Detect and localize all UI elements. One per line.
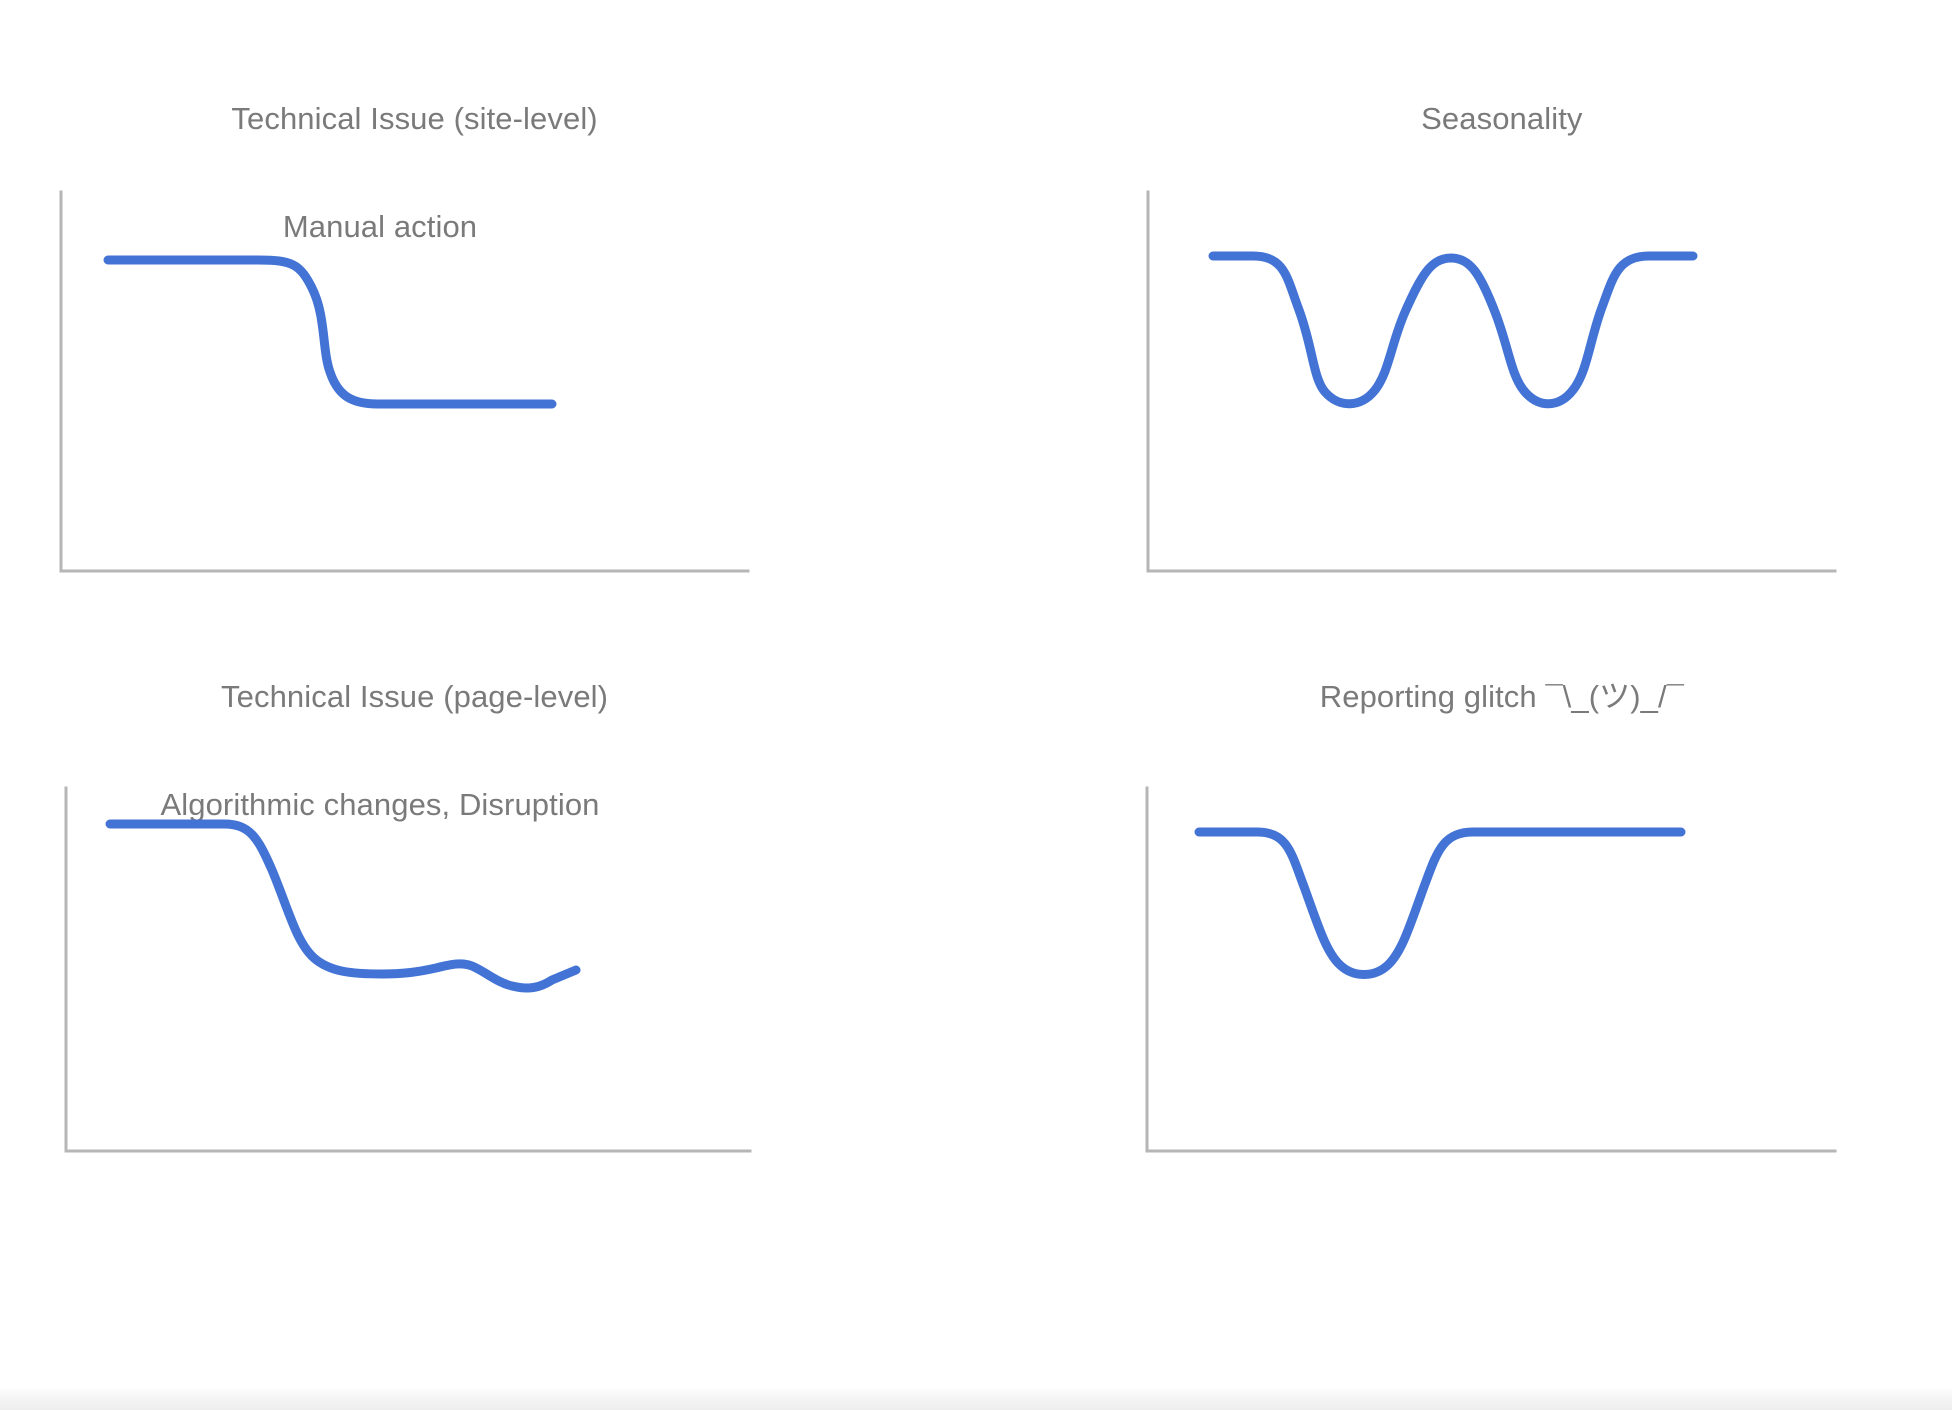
bottom-edge-band xyxy=(0,1388,1952,1410)
panel-title-line1: Seasonality xyxy=(1421,101,1582,136)
chart-seasonality xyxy=(1087,168,1857,598)
chart-axes-reporting-glitch xyxy=(1147,788,1835,1151)
chart-axes-site-level xyxy=(61,192,748,571)
chart-reporting-glitch xyxy=(1087,766,1857,1186)
panel-technical-issue-site-level: Technical Issue (site-level) Manual acti… xyxy=(0,38,760,362)
chart-series-site-level xyxy=(108,260,552,404)
panel-title-line1: Technical Issue (site-level) xyxy=(231,101,597,136)
chart-series-page-level xyxy=(110,824,576,988)
slide-canvas: Technical Issue (site-level) Manual acti… xyxy=(0,0,1952,1410)
chart-technical-issue-site-level xyxy=(0,168,770,598)
chart-svg-seasonality xyxy=(1087,168,1857,598)
chart-svg-page-level xyxy=(0,766,770,1186)
chart-grid: Technical Issue (site-level) Manual acti… xyxy=(0,0,1952,1410)
chart-svg-site-level xyxy=(0,168,770,598)
chart-axes-seasonality xyxy=(1148,192,1835,571)
panel-seasonality: Seasonality xyxy=(1087,38,1847,308)
chart-series-seasonality xyxy=(1213,256,1693,404)
chart-series-reporting-glitch xyxy=(1199,832,1681,975)
panel-technical-issue-page-level: Technical Issue (page-level) Algorithmic… xyxy=(0,616,760,940)
chart-technical-issue-page-level xyxy=(0,766,770,1186)
panel-title-line1: Technical Issue (page-level) xyxy=(221,679,608,714)
panel-title-line1: Reporting glitch ¯\_(ツ)_/¯ xyxy=(1320,679,1684,714)
panel-reporting-glitch: Reporting glitch ¯\_(ツ)_/¯ xyxy=(1087,616,1847,886)
chart-svg-reporting-glitch xyxy=(1087,766,1857,1186)
